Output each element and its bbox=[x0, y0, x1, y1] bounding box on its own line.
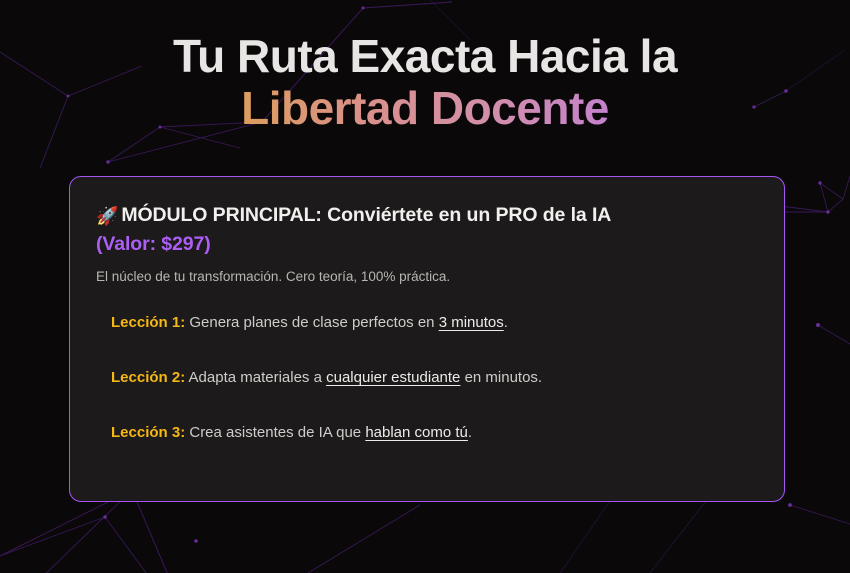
headline-line-2-gradient: Libertad Docente bbox=[0, 85, 850, 132]
lesson-label: Lección 1: bbox=[111, 314, 185, 331]
lesson-text-before: Crea asistentes de IA que bbox=[189, 424, 361, 441]
lesson-text-after: . bbox=[504, 314, 508, 331]
lesson-text-after: . bbox=[468, 424, 472, 441]
lesson-label: Lección 2: bbox=[111, 369, 185, 386]
lesson-highlight: 3 minutos bbox=[439, 314, 504, 331]
lesson-highlight: hablan como tú bbox=[365, 424, 468, 441]
landing-page: Tu Ruta Exacta Hacia la Libertad Docente… bbox=[0, 0, 850, 573]
list-item: Lección 2: Adapta materiales a cualquier… bbox=[96, 368, 758, 388]
lesson-list: Lección 1: Genera planes de clase perfec… bbox=[96, 313, 758, 444]
headline-line-1: Tu Ruta Exacta Hacia la bbox=[0, 33, 850, 80]
lesson-text-before: Genera planes de clase perfectos en bbox=[189, 314, 434, 331]
module-card: 🚀MÓDULO PRINCIPAL: Conviértete en un PRO… bbox=[69, 176, 785, 502]
module-title-main: MÓDULO PRINCIPAL: Conviértete en un PRO … bbox=[121, 204, 611, 226]
lesson-text-after: en minutos. bbox=[465, 369, 543, 386]
lesson-label: Lección 3: bbox=[111, 424, 185, 441]
lesson-highlight: cualquier estudiante bbox=[326, 369, 460, 386]
list-item: Lección 3: Crea asistentes de IA que hab… bbox=[96, 423, 758, 443]
rocket-icon: 🚀 bbox=[96, 203, 118, 230]
module-subtitle: El núcleo de tu transformación. Cero teo… bbox=[96, 268, 758, 287]
list-item: Lección 1: Genera planes de clase perfec… bbox=[96, 313, 758, 333]
page-title: Tu Ruta Exacta Hacia la Libertad Docente bbox=[0, 0, 850, 132]
module-value-badge: (Valor: $297) bbox=[96, 233, 211, 255]
module-title: 🚀MÓDULO PRINCIPAL: Conviértete en un PRO… bbox=[96, 201, 758, 259]
lesson-text-before: Adapta materiales a bbox=[189, 369, 322, 386]
